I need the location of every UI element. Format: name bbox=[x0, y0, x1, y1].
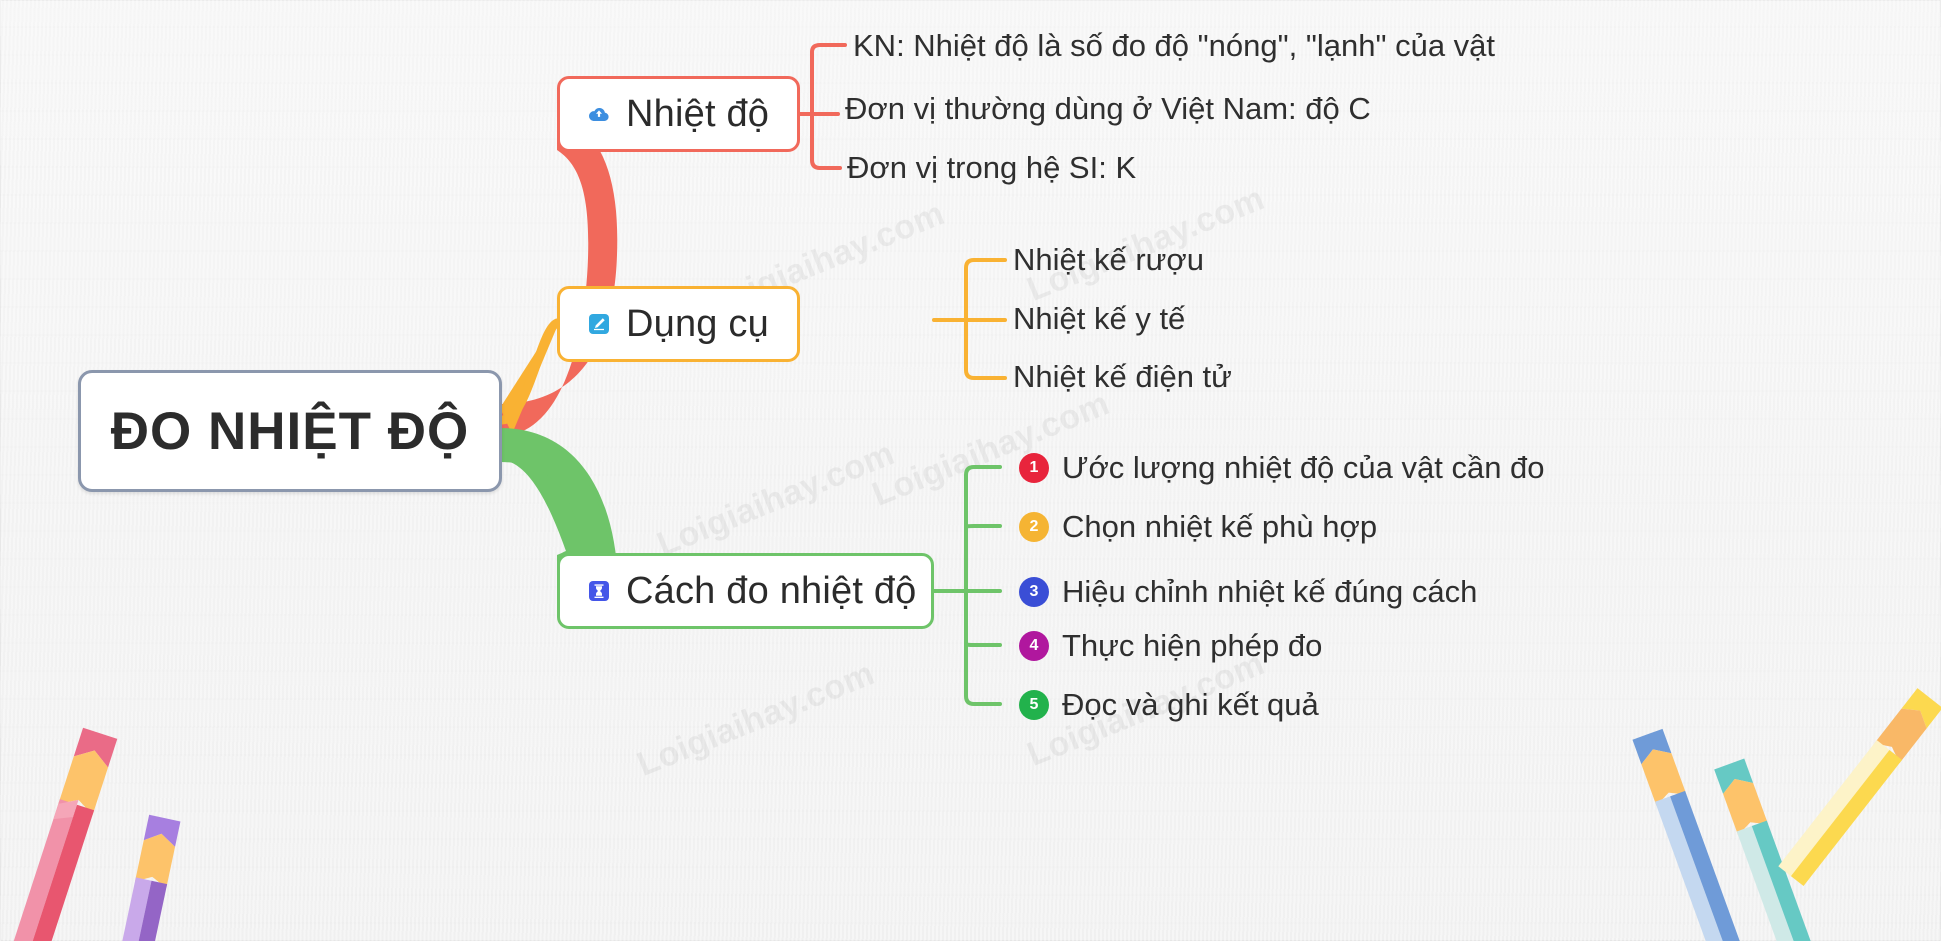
branch-node-nhiet-do[interactable]: Nhiệt độ bbox=[557, 76, 800, 152]
trunk-edge-red bbox=[500, 114, 617, 436]
leaf-item[interactable]: KN: Nhiệt độ là số đo độ "nóng", "lạnh" … bbox=[853, 30, 1495, 61]
subedge-red bbox=[812, 45, 845, 114]
leaf-item[interactable]: Nhiệt kế y tế bbox=[1013, 303, 1185, 334]
leaf-item[interactable]: 3 Hiệu chỉnh nhiệt kế đúng cách bbox=[1019, 576, 1477, 607]
cloud-upload-icon bbox=[586, 101, 612, 127]
leaf-text: Nhiệt kế điện tử bbox=[1013, 361, 1232, 392]
branch-node-dung-cu[interactable]: Dụng cụ bbox=[557, 286, 800, 362]
branch-node-label: Nhiệt độ bbox=[626, 95, 769, 133]
step-badge: 4 bbox=[1019, 631, 1049, 661]
leaf-item[interactable]: 2 Chọn nhiệt kế phù hợp bbox=[1019, 511, 1377, 542]
leaf-text: Hiệu chỉnh nhiệt kế đúng cách bbox=[1062, 576, 1477, 607]
pencil-square-icon bbox=[586, 311, 612, 337]
subedge-amber bbox=[966, 260, 1005, 320]
leaf-item[interactable]: 4 Thực hiện phép đo bbox=[1019, 630, 1322, 661]
step-badge: 5 bbox=[1019, 690, 1049, 720]
branch-node-label: Cách đo nhiệt độ bbox=[626, 572, 917, 610]
leaf-item[interactable]: Đơn vị trong hệ SI: K bbox=[847, 152, 1136, 183]
trunk-edge-amber-2 bbox=[502, 323, 557, 420]
step-badge: 3 bbox=[1019, 577, 1049, 607]
leaf-text: Nhiệt kế rượu bbox=[1013, 244, 1204, 275]
leaf-item[interactable]: Nhiệt kế rượu bbox=[1013, 244, 1204, 275]
leaf-text: Đọc và ghi kết quả bbox=[1062, 689, 1319, 720]
step-badge: 1 bbox=[1019, 453, 1049, 483]
subedge-amber bbox=[966, 320, 1005, 378]
leaf-text: Thực hiện phép đo bbox=[1062, 630, 1322, 661]
leaf-text: Nhiệt kế y tế bbox=[1013, 303, 1185, 334]
trunk-edge-amber bbox=[500, 319, 557, 434]
leaf-item[interactable]: 5 Đọc và ghi kết quả bbox=[1019, 689, 1319, 720]
pencils-right-decoration bbox=[1617, 687, 1941, 941]
hourglass-square-icon bbox=[586, 578, 612, 604]
leaf-text: Ước lượng nhiệt độ của vật cần đo bbox=[1062, 452, 1545, 483]
leaf-text: Chọn nhiệt kế phù hợp bbox=[1062, 511, 1377, 542]
step-badge: 2 bbox=[1019, 512, 1049, 542]
root-node-label: ĐO NHIỆT ĐỘ bbox=[111, 405, 469, 458]
watermark: Loigiaihay.com bbox=[632, 654, 880, 785]
leaf-item[interactable]: Nhiệt kế điện tử bbox=[1013, 361, 1232, 392]
leaf-item[interactable]: Đơn vị thường dùng ở Việt Nam: độ C bbox=[845, 93, 1371, 124]
subedge-red bbox=[812, 114, 840, 168]
mindmap-canvas: Loigiaihay.com Loigiaihay.com Loigiaihay… bbox=[0, 0, 1941, 941]
pencils-left-decoration bbox=[0, 697, 250, 941]
subedge-green bbox=[966, 467, 1000, 591]
leaf-text: KN: Nhiệt độ là số đo độ "nóng", "lạnh" … bbox=[853, 30, 1495, 61]
branch-node-label: Dụng cụ bbox=[626, 305, 769, 343]
leaf-text: Đơn vị trong hệ SI: K bbox=[847, 152, 1136, 183]
subedge-green bbox=[966, 591, 1000, 704]
watermark: Loigiaihay.com bbox=[652, 434, 900, 565]
leaf-text: Đơn vị thường dùng ở Việt Nam: độ C bbox=[845, 93, 1371, 124]
subedge-green bbox=[966, 591, 1000, 645]
leaf-item[interactable]: 1 Ước lượng nhiệt độ của vật cần đo bbox=[1019, 452, 1545, 483]
branch-node-cach-do[interactable]: Cách đo nhiệt độ bbox=[557, 553, 934, 629]
subedge-green bbox=[966, 526, 1000, 591]
root-node[interactable]: ĐO NHIỆT ĐỘ bbox=[78, 370, 502, 492]
